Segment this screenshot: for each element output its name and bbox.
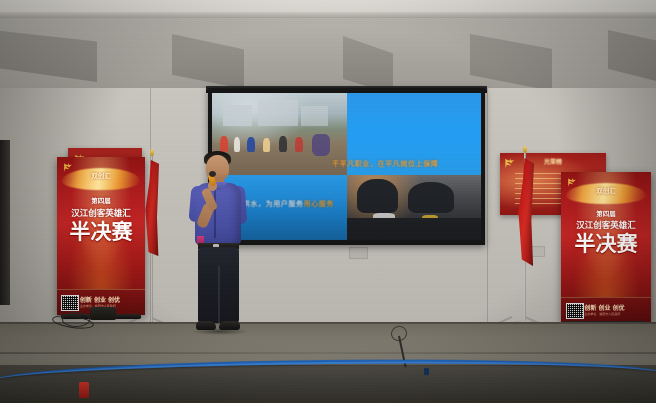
banner-ribbon-text: 双创汇 <box>57 170 145 180</box>
ceiling-panel <box>0 12 656 90</box>
banner-line1: 第四届 <box>561 208 651 218</box>
speaker-shoe-right <box>219 321 240 330</box>
wall-plate-right <box>531 246 545 257</box>
wall-seam-2 <box>487 88 488 328</box>
party-emblem-icon <box>503 156 520 171</box>
banner-line2: 汉江创客英雄汇 <box>561 219 651 231</box>
speaker-shirt-placket <box>214 186 216 238</box>
slide-caption-top: 干平凡职业，在平凡岗位上保障 <box>332 159 438 169</box>
banner-footer-slogan: 创新 创业 创优 <box>584 303 648 312</box>
rollup-banner-right[interactable]: 双创汇 第四届 汉江创客英雄汇 半决赛 创新 创业 创优 主办单位 · 襄阳市人… <box>561 172 651 322</box>
banner-line2: 汉江创客英雄汇 <box>57 207 145 219</box>
banner-ribbon-text: 双创汇 <box>561 185 651 195</box>
speaker-figure <box>186 148 250 338</box>
rollup-banner-left[interactable]: 双创汇 第四届 汉江创客英雄汇 半决赛 创新 创业 创优 主办单位 · 襄阳市人… <box>57 157 145 315</box>
microphone-head-icon <box>209 171 216 177</box>
banner-footer: 创新 创业 创优 主办单位 · 襄阳市人民政府 <box>561 297 651 322</box>
banner-footer-slogan: 创新 创业 创优 <box>80 295 143 304</box>
ceiling-edge <box>0 12 656 18</box>
banner-headline: 半决赛 <box>561 235 651 254</box>
banner-line1: 第四届 <box>57 195 145 205</box>
banner-footer-subtext: 主办单位 · 襄阳市人民政府 <box>584 312 648 316</box>
coiled-cable-inner <box>62 312 90 327</box>
qr-code-icon[interactable] <box>566 303 584 318</box>
banner-headline: 半决赛 <box>57 223 145 242</box>
screenshot-root: 光荣榜 <box>0 0 656 403</box>
cable-clip <box>424 368 429 375</box>
floor-seam <box>0 352 656 354</box>
slide-quadrant-bottom-right <box>347 175 482 240</box>
flag-finial-left <box>150 149 154 156</box>
speaker-shoe-left <box>196 321 216 330</box>
qr-code-icon[interactable] <box>61 295 79 311</box>
red-floor-object <box>79 382 89 398</box>
slide-caption-highlight: 用心服务 <box>304 200 334 208</box>
wall-plate-center <box>349 247 368 259</box>
speaker-leg-seam <box>218 266 220 323</box>
flag-finial-right <box>523 146 527 153</box>
presentation-slide: 干平凡职业，在平凡岗位上保障 保安全供水，为用户服务用心服务 <box>212 93 481 240</box>
projection-screen-surface: 干平凡职业，在平凡岗位上保障 保安全供水，为用户服务用心服务 <box>212 93 481 240</box>
equipment-box <box>90 307 116 320</box>
door-frame-edge <box>0 140 10 305</box>
